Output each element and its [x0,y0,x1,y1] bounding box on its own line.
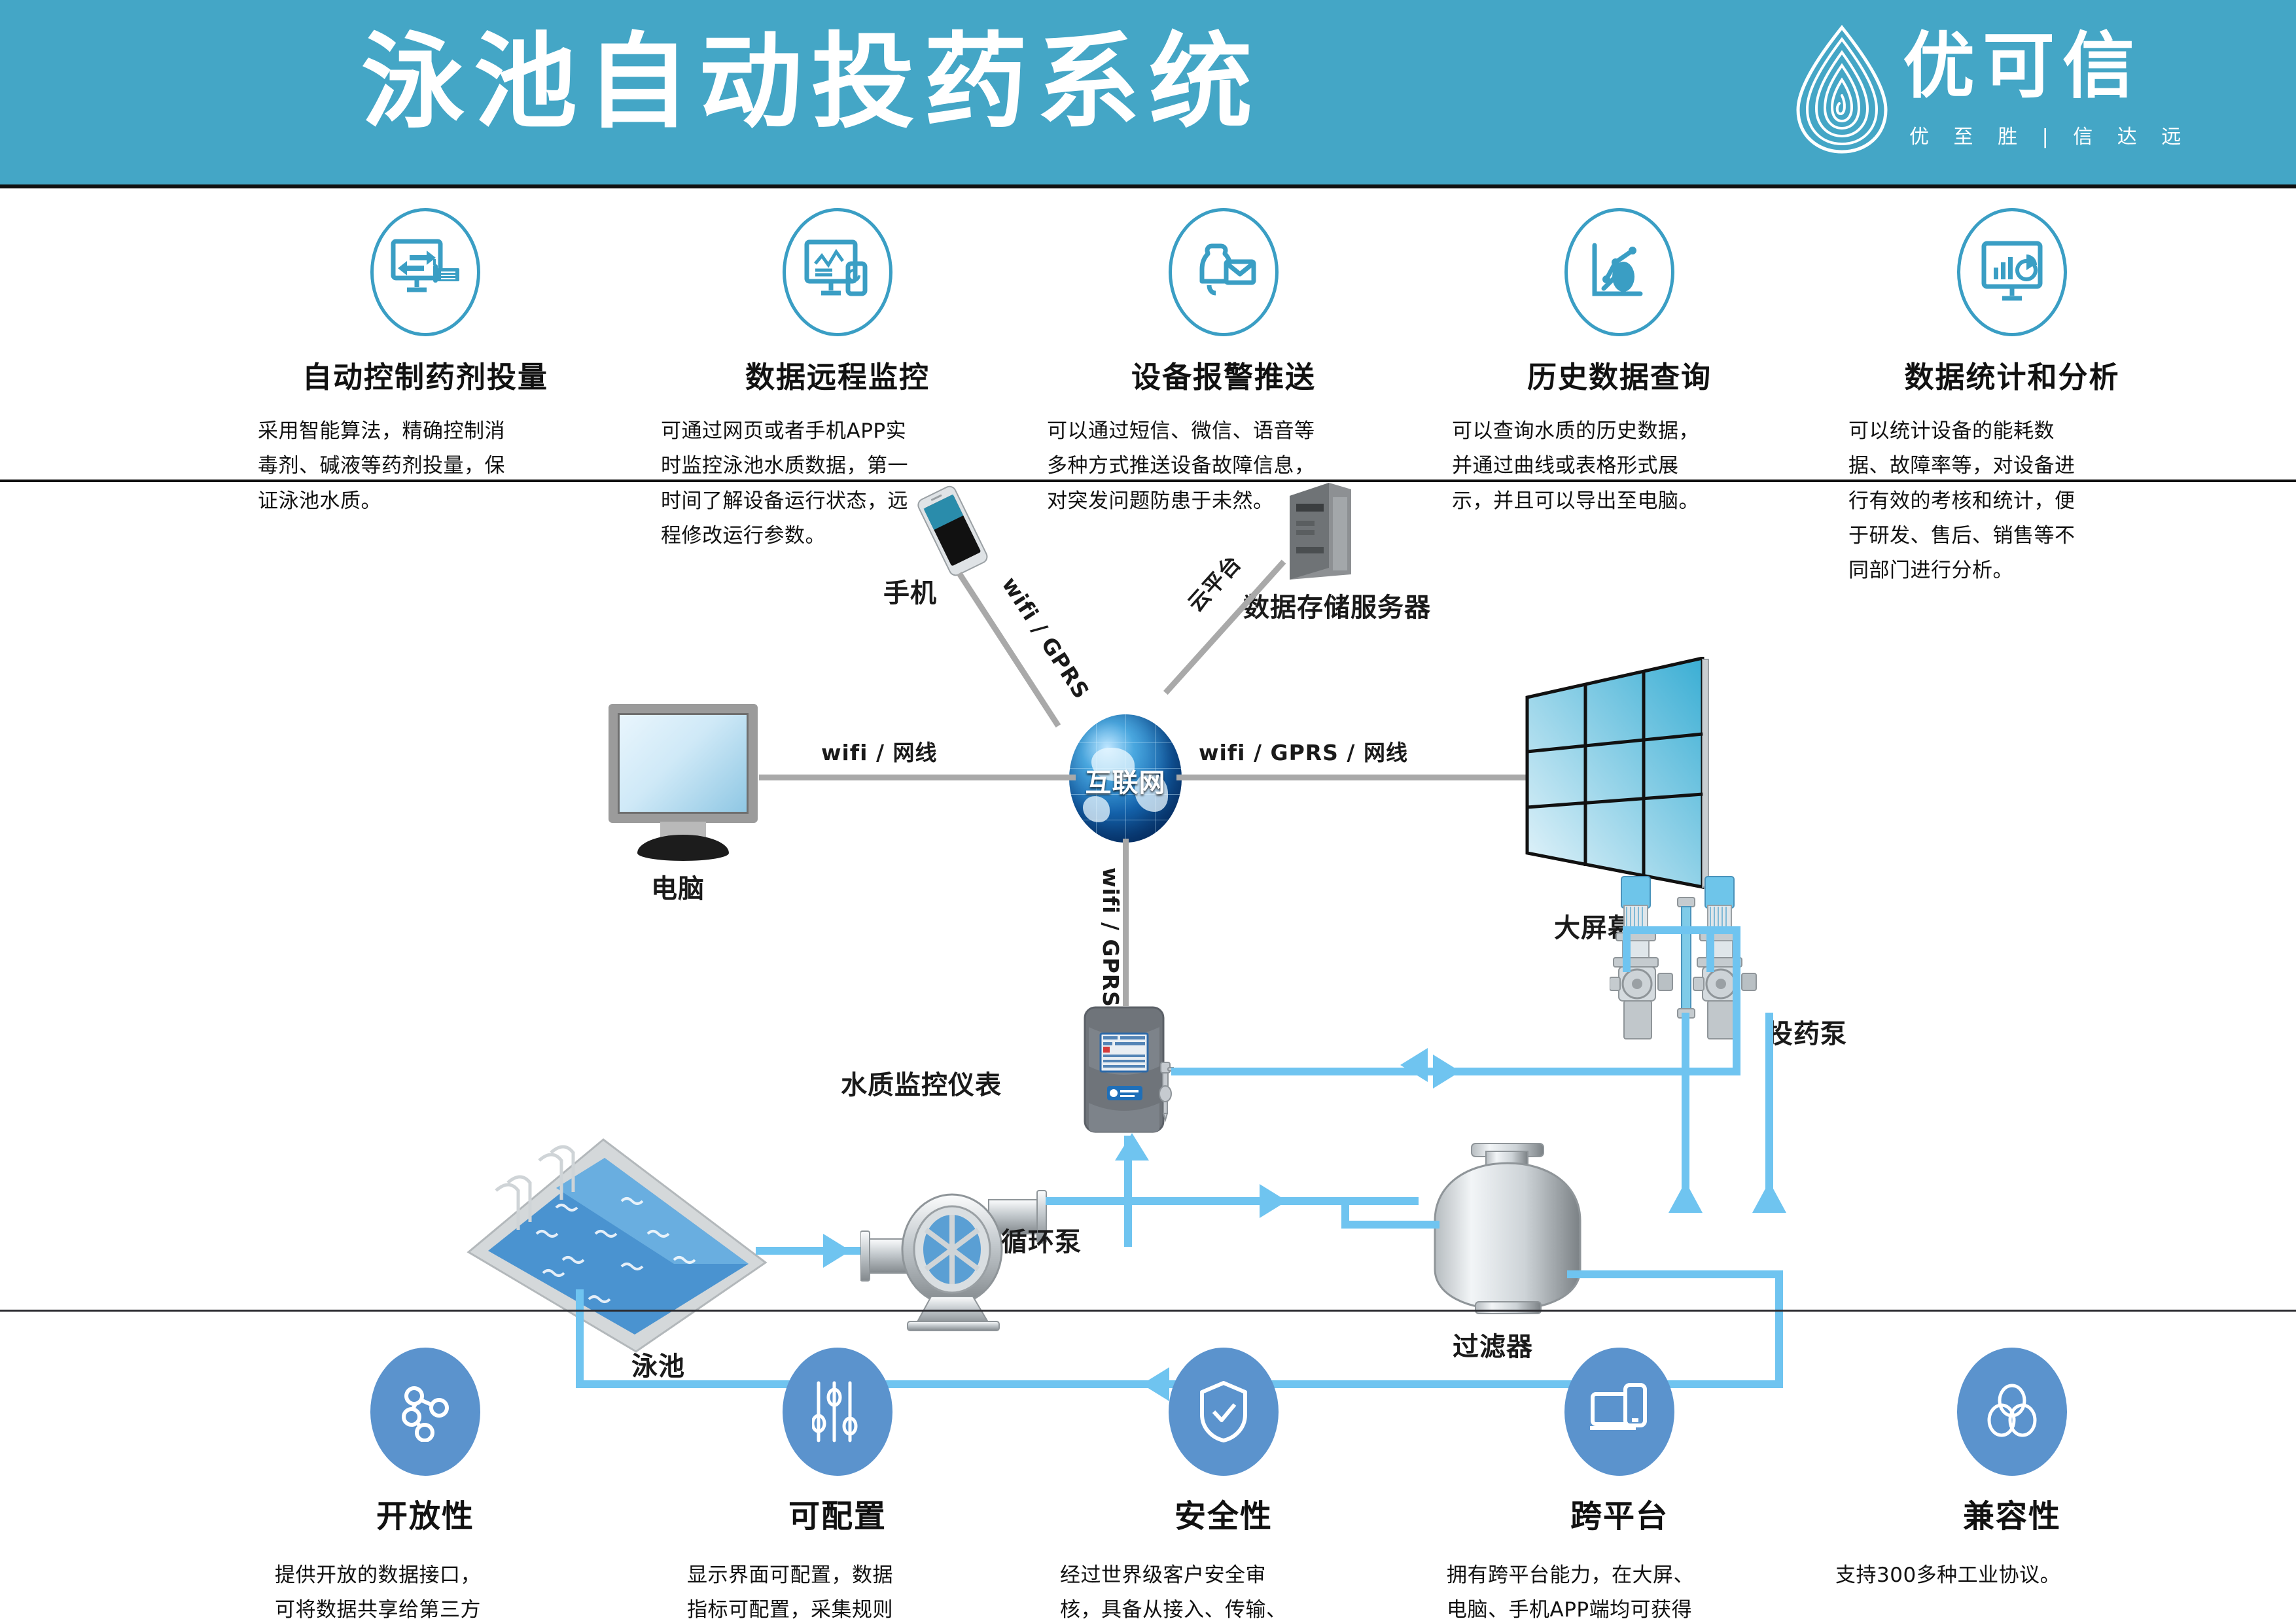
pipe-filter-outlet [1567,1270,1783,1278]
feature-title: 历史数据查询 [1436,353,1803,396]
pipe-pump-to-header [1046,1197,1419,1205]
section-divider-bottom [0,1310,2296,1312]
monitor-chart-mobile-icon [783,208,892,336]
page-title: 泳池自动投药系统 [0,24,1623,143]
filter-tank-icon [1430,1142,1593,1319]
feature-card-3: 历史数据查询 可以查询水质的历史数据，并通过曲线或表格形式展示，并且可以导出至电… [1436,208,1803,519]
sliders-icon [783,1348,892,1476]
link-backbone-right [1176,775,1530,780]
feature-title: 跨平台 [1436,1490,1803,1536]
feature-body: 显示界面可配置，数据指标可配置，采集规则可配置，报警规则可配置。 [687,1558,903,1623]
feature-card-9: 兼容性 支持300多种工业协议。 [1829,1348,2195,1593]
feature-body: 拥有跨平台能力，在大屏、电脑、手机APP端均可获得友好的访问服务。 [1447,1558,1702,1623]
feature-card-0: 自动控制药剂投量 采用智能算法，精确控制消毒剂、碱液等药剂投量，保证泳池水质。 [242,208,609,519]
feature-body: 提供开放的数据接口，可将数据共享给第三方平台。 [275,1558,491,1623]
monitor-bar-pie-icon [1957,208,2067,336]
pipe-rail-top [1623,926,1740,934]
feature-card-8: 跨平台 拥有跨平台能力，在大屏、电脑、手机APP端均可获得友好的访问服务。 [1436,1348,1803,1623]
pipe-rail-right [1733,926,1740,1075]
link-label-computer: wifi / 网线 [821,735,938,767]
venn-circles-icon [1957,1348,2067,1476]
cross-platform-devices-icon [1564,1348,1674,1476]
swimming-pool-icon [458,1136,785,1358]
label-dosing-pump: 投药泵 [1767,1013,1847,1051]
link-backbone-left [759,775,1076,780]
pipe-filter-inlet-down [1341,1197,1349,1229]
mobile-phone-icon [913,485,991,577]
link-label-server: 云平台 [1179,547,1247,618]
feature-title: 自动控制药剂投量 [242,353,609,396]
arrow-pool-to-pump [823,1234,851,1268]
link-label-bigscreen: wifi / GPRS / 网线 [1199,735,1408,767]
pipe-pump-feed-2 [1706,926,1714,972]
arrow-pump-to-filter [1260,1184,1287,1218]
feature-card-7: 安全性 经过世界级客户安全审核，具备从接入、传输、到应用管理等多方面的安全机制。 [1040,1348,1407,1623]
link-label-phone: wifi / GPRS [997,572,1095,704]
history-curve-icon [1564,208,1674,336]
brand-logo: 优可信 优 至 胜 | 信 达 远 [1793,18,2199,166]
arrow-dose-2 [1752,1181,1786,1213]
feature-title: 数据远程监控 [654,353,1021,396]
feature-title: 可配置 [654,1490,1021,1536]
feature-body: 经过世界级客户安全审核，具备从接入、传输、到应用管理等多方面的安全机制。 [1060,1558,1296,1623]
water-quality-meter-icon [1082,1005,1174,1136]
feature-title: 开放性 [242,1490,609,1536]
poster-root: 泳池自动投药系统 优可信 优 至 胜 | 信 达 远 [0,0,2296,1623]
pipe-filter-inlet [1341,1221,1439,1229]
label-computer: 电脑 [651,867,705,905]
brand-name: 优可信 [1903,30,2142,102]
arrow-rail-left [1400,1048,1428,1082]
pipe-dose-down-1 [1682,1013,1689,1209]
label-meter: 水质监控仪表 [841,1064,1002,1102]
pipe-pump-feed-1 [1623,926,1631,972]
feature-title: 设备报警推送 [1040,353,1407,396]
label-server: 数据存储服务器 [1243,586,1431,624]
desktop-computer-icon [609,704,758,823]
shield-check-icon [1169,1348,1279,1476]
label-internet: 互联网 [1069,761,1182,799]
monitor-base [637,835,729,861]
label-circ-pump: 循环泵 [1001,1221,1082,1259]
feature-title: 数据统计和分析 [1829,353,2195,396]
arrow-to-meter [1115,1133,1149,1161]
feature-title: 兼容性 [1829,1490,2195,1536]
feature-title: 安全性 [1040,1490,1407,1536]
arrow-dose-1 [1669,1181,1703,1213]
monitor-exchange-icon [370,208,480,336]
feature-body: 支持300多种工业协议。 [1835,1558,2091,1593]
waterdrop-fingerprint-icon [1793,22,1891,156]
label-phone: 手机 [883,572,937,610]
bell-envelope-icon [1169,208,1279,336]
feature-card-5: 开放性 提供开放的数据接口，可将数据共享给第三方平台。 [242,1348,609,1623]
pipe-dose-down-2 [1765,1013,1773,1209]
server-tower-icon [1284,481,1356,580]
video-wall-icon [1525,657,1721,899]
brand-tagline: 优 至 胜 | 信 达 远 [1909,120,2190,149]
header-banner: 泳池自动投药系统 优可信 优 至 胜 | 信 达 远 [0,0,2296,188]
feature-card-2: 设备报警推送 可以通过短信、微信、语音等多种方式推送设备故障信息，对突发问题防患… [1040,208,1407,519]
system-diagram: 手机 wifi / GPRS 数据存储服务器 云平台 互联网 [0,481,2296,1308]
arrow-meter-out [1433,1055,1460,1089]
share-nodes-icon [370,1348,480,1476]
feature-card-6: 可配置 显示界面可配置，数据指标可配置，采集规则可配置，报警规则可配置。 [654,1348,1021,1623]
